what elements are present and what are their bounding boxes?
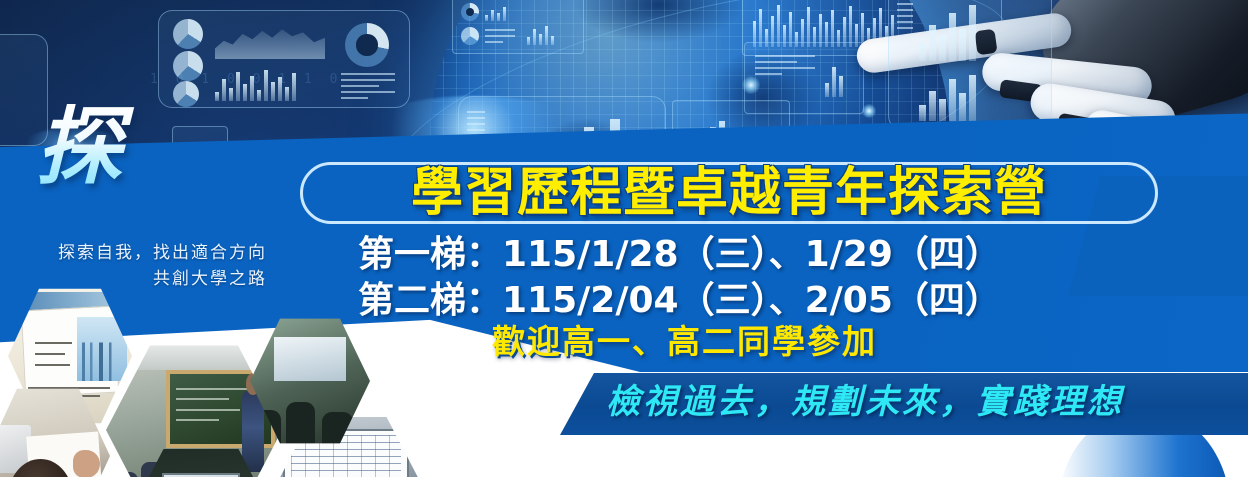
circuit-lines-icon (755, 55, 815, 75)
pie-chart-icon (173, 19, 203, 49)
hexagon-photo-collage (0, 286, 498, 477)
hud-panel-bars-top (452, 0, 584, 54)
promotional-banner: 1 0 1 0 0 1 1 0 0 1 1 0 1 0 1 0 0 1 1 0 … (0, 0, 1248, 477)
slogan-text: 檢視過去，規劃未來，實踐理想 (606, 385, 1124, 419)
text-lines-icon (341, 73, 395, 99)
page-title: 學習歷程暨卓越青年探索營 (306, 163, 1152, 223)
donut-chart-icon (345, 23, 389, 67)
area-chart-icon (215, 21, 325, 59)
hud-panel-hand-chart (888, 0, 1052, 130)
pie-chart-icon (173, 51, 203, 81)
brand-word-1: 探 (36, 104, 128, 190)
axis-ticks-icon (897, 0, 913, 29)
bar-chart-icon (919, 1, 976, 61)
brand-word-2: 索 (174, 140, 266, 226)
brand-wordmark: 探索 (36, 104, 266, 190)
dashboard-panel-pie-area (158, 10, 410, 108)
donut-chart-icon (461, 3, 479, 21)
pie-chart-icon (461, 27, 479, 45)
bar-chart-icon (919, 71, 976, 121)
session-date-line-1: 第一梯：115/1/28（三）、1/29（四） (358, 237, 1001, 273)
subtitle-block: 探索自我，找出適合方向 共創大學之路 (58, 240, 267, 292)
subtitle-line-1: 探索自我，找出適合方向 (58, 243, 267, 263)
text-lines-icon (485, 29, 515, 43)
bar-chart-icon (527, 23, 554, 45)
bar-chart-icon (215, 67, 296, 101)
bar-chart-icon (485, 5, 506, 21)
welcome-notice: 歡迎高一、高二同學參加 (492, 325, 877, 358)
